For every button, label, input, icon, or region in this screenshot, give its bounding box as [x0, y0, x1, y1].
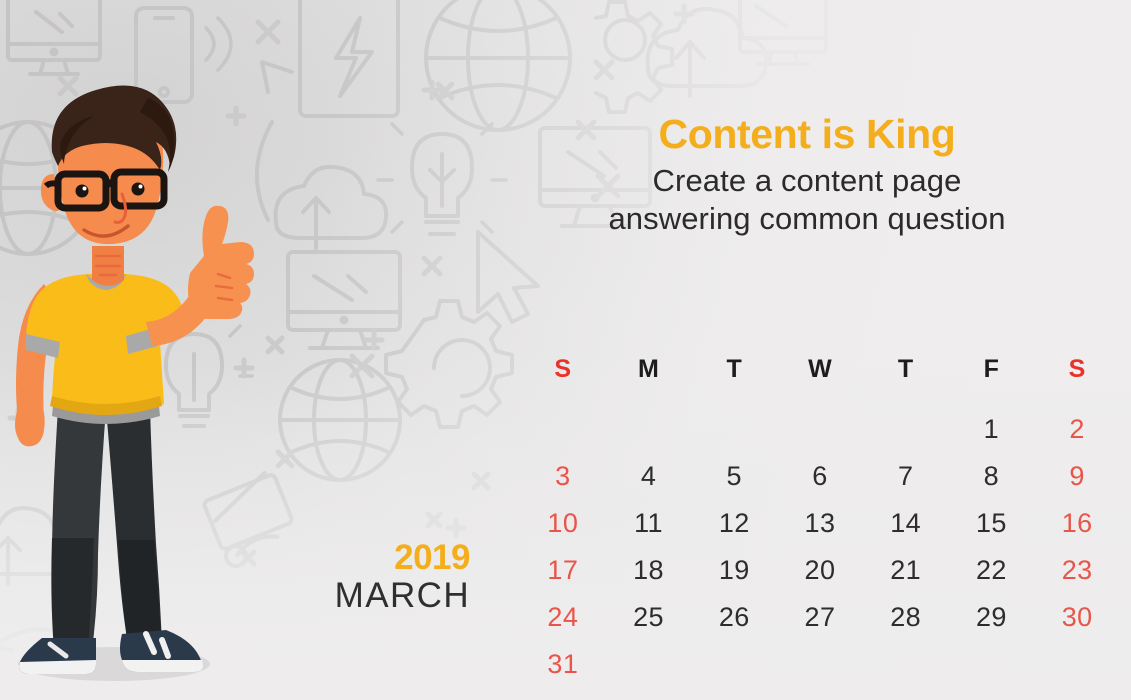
x-mark-icon [428, 514, 440, 526]
hand-thumbs-up [188, 206, 254, 319]
gear-icon [596, 2, 672, 112]
monitor-icon [740, 0, 826, 64]
gear-icon [386, 301, 512, 427]
calendar-week-row: 3456789 [520, 453, 1120, 500]
calendar-day-20[interactable]: 20 [777, 547, 863, 594]
calendar-day-19[interactable]: 19 [691, 547, 777, 594]
plus-mark-icon [366, 332, 382, 348]
x-mark-icon [438, 84, 452, 98]
calendar-day-empty [777, 641, 863, 688]
calendar-day-25[interactable]: 25 [606, 594, 692, 641]
calendar-day-empty [1034, 641, 1120, 688]
calendar-poster: Content is King Create a content page an… [0, 0, 1131, 700]
calendar-weekday-2: T [691, 355, 777, 406]
x-mark-icon [424, 258, 440, 274]
calendar-grid: SMTWTFS 12345678910111213141516171819202… [520, 355, 1120, 688]
x-mark-icon [352, 356, 372, 376]
cloud-upload-icon [276, 167, 387, 248]
calendar-day-12[interactable]: 12 [691, 500, 777, 547]
month-label-block: 2019 MARCH [300, 540, 470, 618]
calendar-day-empty [606, 641, 692, 688]
globe-icon [426, 0, 570, 130]
shoe-back [19, 638, 96, 674]
calendar-day-2[interactable]: 2 [1034, 406, 1120, 453]
x-mark-icon [278, 452, 292, 466]
calendar-day-23[interactable]: 23 [1034, 547, 1120, 594]
calendar-month: MARCH [300, 575, 470, 618]
calendar-day-empty [777, 406, 863, 453]
calendar-week-row: 31 [520, 641, 1120, 688]
calendar-day-16[interactable]: 16 [1034, 500, 1120, 547]
calendar-day-27[interactable]: 27 [777, 594, 863, 641]
calendar-day-17[interactable]: 17 [520, 547, 606, 594]
page-title: Content is King [527, 112, 1087, 156]
calendar-day-9[interactable]: 9 [1034, 453, 1120, 500]
calendar-weekday-5: F [949, 355, 1035, 406]
hand-left [15, 406, 45, 446]
calendar-weekday-3: W [777, 355, 863, 406]
calendar-day-empty [606, 406, 692, 453]
monitor-icon [288, 252, 400, 348]
calendar-day-empty [863, 641, 949, 688]
calendar-day-5[interactable]: 5 [691, 453, 777, 500]
calendar-day-1[interactable]: 1 [949, 406, 1035, 453]
calendar-day-15[interactable]: 15 [949, 500, 1035, 547]
calendar-day-empty [863, 406, 949, 453]
calendar-weekday-1: M [606, 355, 692, 406]
subtitle-line-1: Create a content page [527, 162, 1087, 200]
lightbulb-icon [378, 124, 506, 234]
leg-back-lower [51, 538, 94, 650]
plus-mark-icon [424, 82, 440, 98]
x-mark-icon [474, 474, 488, 488]
calendar-day-empty [691, 641, 777, 688]
shoe-front [120, 630, 203, 672]
calendar-week-row: 17181920212223 [520, 547, 1120, 594]
calendar-weekday-row: SMTWTFS [520, 355, 1120, 406]
x-mark-icon [268, 338, 282, 352]
calendar-day-21[interactable]: 21 [863, 547, 949, 594]
calendar-day-24[interactable]: 24 [520, 594, 606, 641]
calendar-day-29[interactable]: 29 [949, 594, 1035, 641]
calendar-day-31[interactable]: 31 [520, 641, 606, 688]
calendar-weekday-6: S [1034, 355, 1120, 406]
calendar-day-11[interactable]: 11 [606, 500, 692, 547]
calendar-day-7[interactable]: 7 [863, 453, 949, 500]
calendar-weekday-4: T [863, 355, 949, 406]
calendar-day-4[interactable]: 4 [606, 453, 692, 500]
calendar-day-empty [520, 406, 606, 453]
page-subtitle: Create a content page answering common q… [527, 162, 1087, 238]
cursor-icon [478, 232, 538, 322]
calendar-day-18[interactable]: 18 [606, 547, 692, 594]
calendar-day-26[interactable]: 26 [691, 594, 777, 641]
calendar-day-22[interactable]: 22 [949, 547, 1035, 594]
calendar-day-13[interactable]: 13 [777, 500, 863, 547]
calendar-day-6[interactable]: 6 [777, 453, 863, 500]
calendar-day-14[interactable]: 14 [863, 500, 949, 547]
calendar-day-30[interactable]: 30 [1034, 594, 1120, 641]
globe-icon [280, 360, 400, 480]
arrow-icon [257, 62, 292, 220]
calendar-table: SMTWTFS 12345678910111213141516171819202… [520, 355, 1120, 688]
calendar-day-10[interactable]: 10 [520, 500, 606, 547]
headline-block: Content is King Create a content page an… [527, 112, 1087, 238]
character-illustration [0, 78, 256, 700]
calendar-day-28[interactable]: 28 [863, 594, 949, 641]
arrow-icon [160, 61, 262, 78]
monitor-icon [8, 0, 100, 74]
calendar-day-empty [691, 406, 777, 453]
subtitle-line-2: answering common question [527, 200, 1087, 238]
x-mark-icon [596, 62, 612, 78]
calendar-week-row: 24252627282930 [520, 594, 1120, 641]
calendar-week-row: 10111213141516 [520, 500, 1120, 547]
eye-right [132, 183, 145, 196]
plus-mark-icon [676, 6, 692, 22]
calendar-week-row: 12 [520, 406, 1120, 453]
calendar-year: 2019 [300, 540, 470, 575]
calendar-day-8[interactable]: 8 [949, 453, 1035, 500]
calendar-day-empty [949, 641, 1035, 688]
battery-icon [300, 0, 398, 116]
calendar-weekday-0: S [520, 355, 606, 406]
calendar-day-3[interactable]: 3 [520, 453, 606, 500]
plus-mark-icon [448, 520, 464, 536]
eye-left [76, 185, 89, 198]
x-mark-icon [258, 22, 278, 42]
cloud-upload-icon [648, 9, 767, 96]
